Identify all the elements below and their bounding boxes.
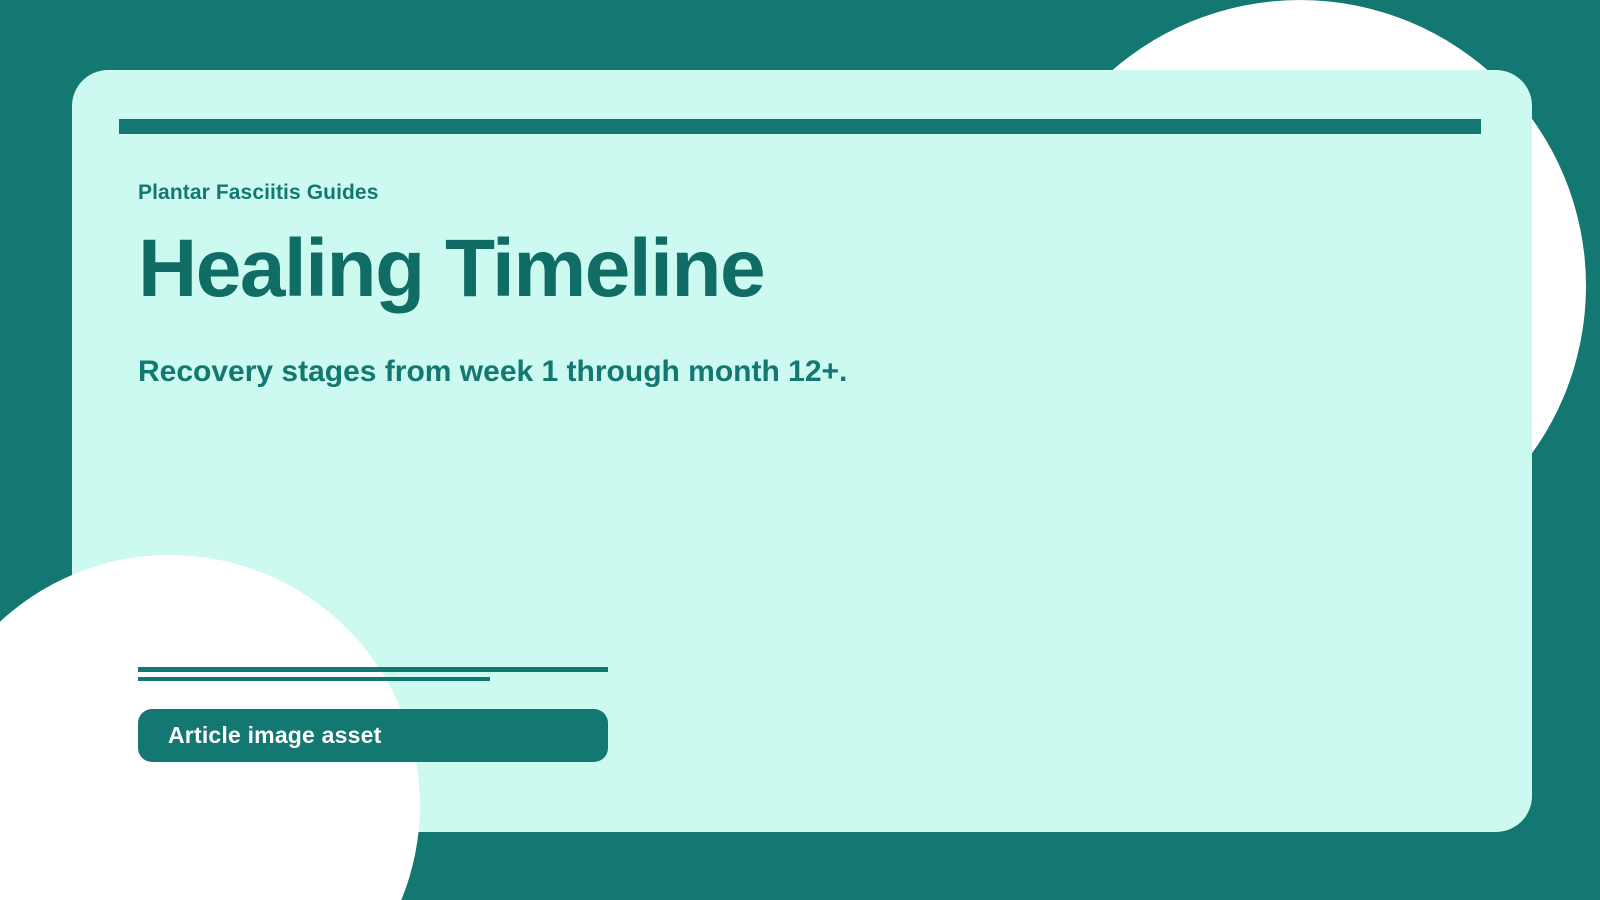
text-content-block: Plantar Fasciitis Guides Healing Timelin… [138, 180, 938, 392]
poster-canvas: Plantar Fasciitis Guides Healing Timelin… [0, 0, 1600, 900]
page-subtitle: Recovery stages from week 1 through mont… [138, 351, 868, 392]
page-title: Healing Timeline [138, 227, 938, 311]
footer-rule-primary [138, 667, 608, 672]
top-accent-bar [119, 119, 1481, 134]
eyebrow-label: Plantar Fasciitis Guides [138, 180, 938, 205]
asset-badge: Article image asset [138, 709, 608, 762]
asset-badge-label: Article image asset [168, 722, 381, 749]
footer-rule-secondary [138, 677, 490, 681]
